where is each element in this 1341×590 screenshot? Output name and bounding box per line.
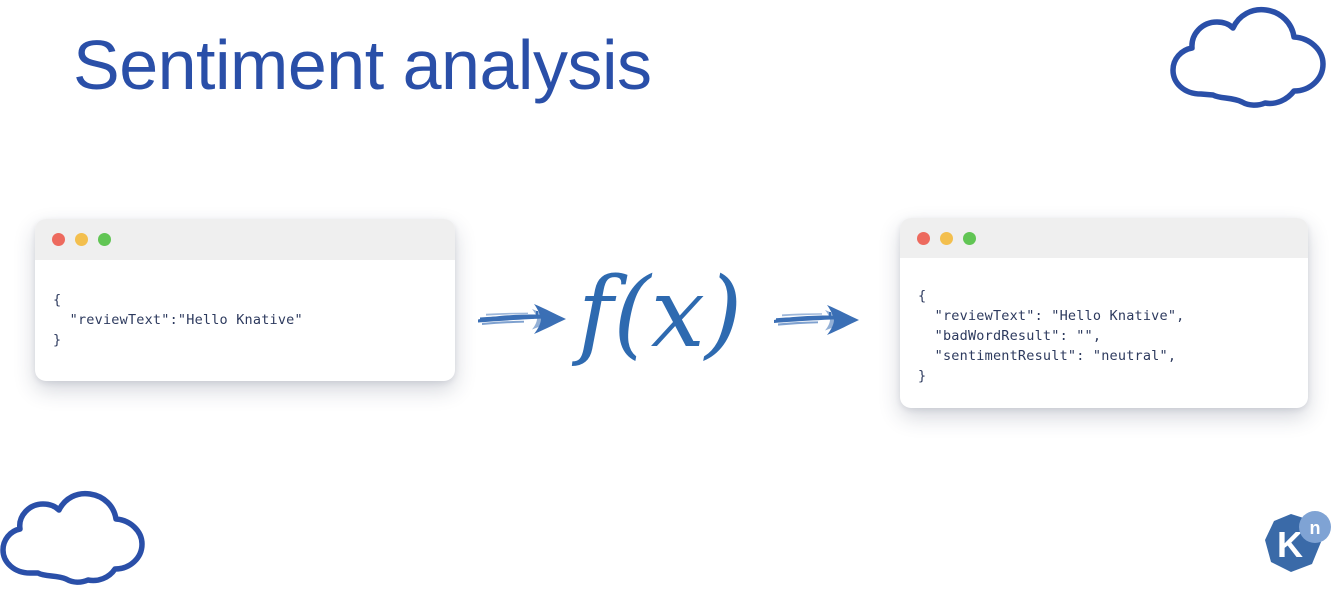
cloud-bottom-left-icon [0, 489, 146, 585]
function-fx-label: f(x) [565, 248, 755, 378]
output-json-code: { "reviewText": "Hello Knative", "badWor… [900, 272, 1308, 396]
cloud-top-right-icon [1168, 6, 1328, 108]
window-title-bar [900, 218, 1308, 258]
knative-letter-n: n [1310, 518, 1321, 538]
input-json-window: { "reviewText":"Hello Knative" } [35, 219, 455, 381]
arrow-right-out-icon [772, 300, 862, 340]
close-button-dot[interactable] [52, 233, 65, 246]
minimize-button-dot[interactable] [940, 232, 953, 245]
minimize-button-dot[interactable] [75, 233, 88, 246]
page-title: Sentiment analysis [73, 27, 652, 104]
knative-logo: K n [1261, 510, 1333, 580]
input-json-code: { "reviewText":"Hello Knative" } [35, 274, 455, 360]
knative-letter-k: K [1277, 524, 1303, 565]
output-json-window: { "reviewText": "Hello Knative", "badWor… [900, 218, 1308, 408]
window-title-bar [35, 219, 455, 260]
arrow-right-in-icon [476, 298, 570, 340]
maximize-button-dot[interactable] [963, 232, 976, 245]
close-button-dot[interactable] [917, 232, 930, 245]
maximize-button-dot[interactable] [98, 233, 111, 246]
slide-canvas: Sentiment analysis { "reviewText":"Hello… [0, 0, 1341, 585]
